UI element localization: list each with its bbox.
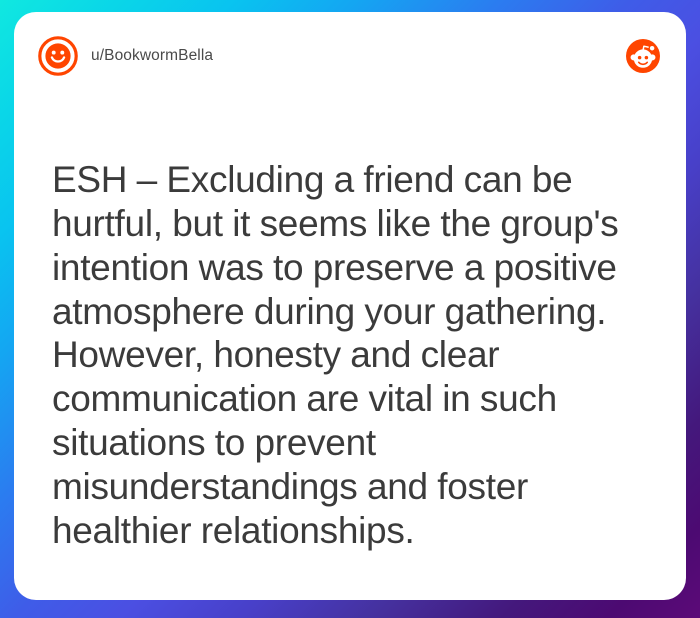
quote-text: ESH – Excluding a friend can be hurtful,… — [52, 158, 660, 553]
gradient-background: u/BookwormBella ESH – Excluding a friend… — [0, 0, 700, 618]
card-header: u/BookwormBella — [14, 12, 686, 100]
smiley-face-avatar-icon — [38, 36, 78, 76]
reddit-quote-card: u/BookwormBella ESH – Excluding a friend… — [14, 12, 686, 600]
author-username: u/BookwormBella — [91, 47, 213, 65]
reddit-snoo-logo-icon[interactable] — [626, 39, 660, 73]
author-block[interactable]: u/BookwormBella — [38, 36, 626, 76]
card-body: ESH – Excluding a friend can be hurtful,… — [14, 100, 686, 600]
